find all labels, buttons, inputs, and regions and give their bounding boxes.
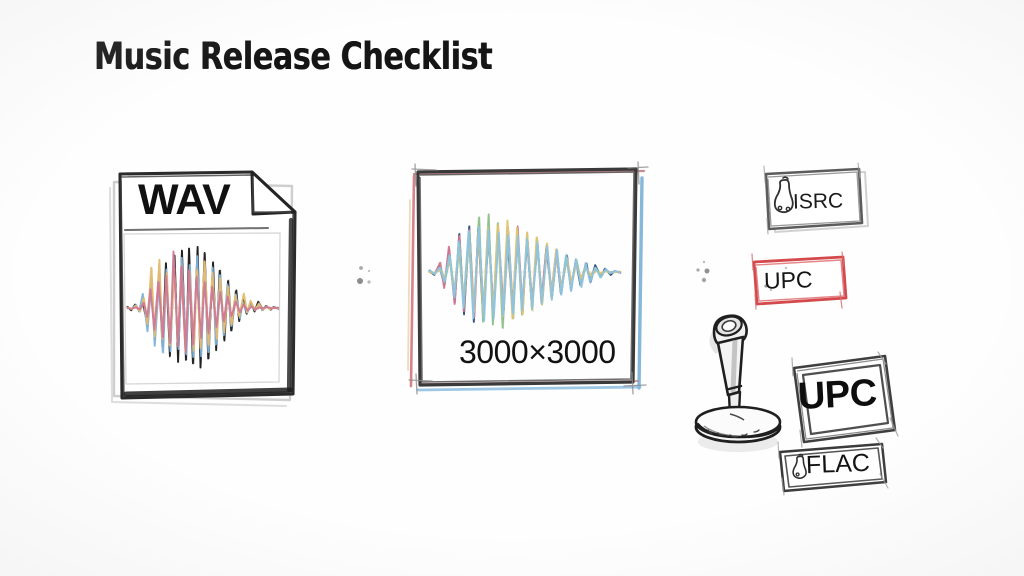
wav-sheet-right-shade xyxy=(289,220,291,390)
upc-large-card-label: UPC xyxy=(797,372,878,419)
mic-base xyxy=(696,407,780,442)
cover-frame-red-left xyxy=(411,176,414,386)
wav-format-label: WAV xyxy=(138,176,230,225)
page-title: Music Release Checklist xyxy=(94,36,492,78)
mic-body-shade xyxy=(733,340,735,392)
sketch-canvas: Music Release Checklist WAV xyxy=(0,0,1024,576)
cover-frame-blue-right xyxy=(639,178,642,388)
cover-frame-gold-left xyxy=(408,200,410,370)
cover-dimensions-label: 3000×3000 xyxy=(459,334,616,371)
separator-dots-2 xyxy=(690,255,720,287)
upc-small-card-label: UPC xyxy=(764,266,813,295)
flac-card-label: FLAC xyxy=(805,449,870,480)
cover-frame-blue-bottom xyxy=(418,387,640,390)
separator-dots-1 xyxy=(352,262,382,294)
isrc-card-label: ISRC xyxy=(793,189,844,214)
wav-folded-corner-icon xyxy=(252,172,295,214)
